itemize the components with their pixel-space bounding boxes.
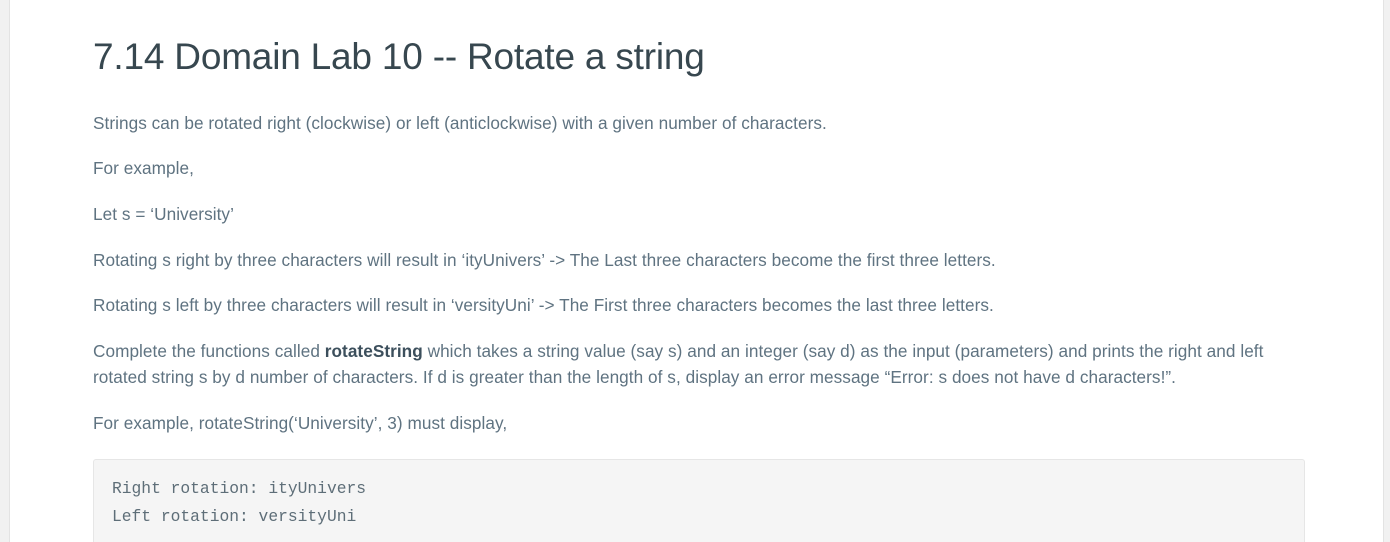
- paragraph-example-intro: For example, rotateString(‘University’, …: [93, 391, 1308, 437]
- expected-output-code-block: Right rotation: ityUnivers Left rotation…: [93, 459, 1305, 542]
- paragraph-rotate-left: Rotating s left by three characters will…: [93, 273, 1308, 319]
- paragraph-rotate-right: Rotating s right by three characters wil…: [93, 228, 1308, 274]
- paragraph-intro: Strings can be rotated right (clockwise)…: [93, 79, 1308, 137]
- paragraph-let-s: Let s = ‘University’: [93, 182, 1308, 228]
- page-frame: 7.14 Domain Lab 10 -- Rotate a string St…: [0, 0, 1390, 542]
- page-title: 7.14 Domain Lab 10 -- Rotate a string: [93, 0, 1383, 79]
- paragraph-instruction: Complete the functions called rotateStri…: [93, 319, 1306, 391]
- content-inner: 7.14 Domain Lab 10 -- Rotate a string St…: [10, 0, 1383, 542]
- content-pane: 7.14 Domain Lab 10 -- Rotate a string St…: [9, 0, 1384, 542]
- instruction-lead: Complete the functions called: [93, 341, 325, 361]
- function-name-emphasis: rotateString: [325, 341, 423, 361]
- paragraph-for-example: For example,: [93, 136, 1308, 182]
